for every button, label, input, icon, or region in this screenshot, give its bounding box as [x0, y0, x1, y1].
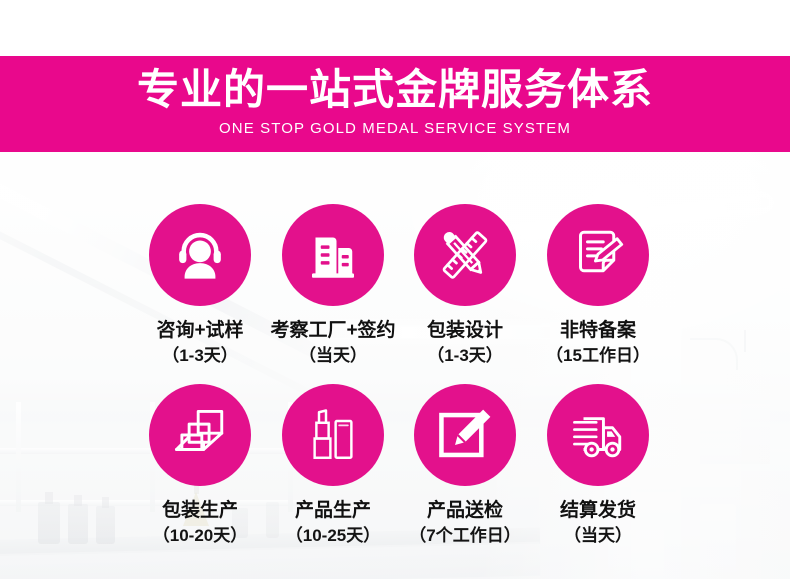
step-icon-circle — [149, 204, 251, 306]
ruler-pencil-icon — [436, 226, 494, 284]
step-icon-circle — [282, 384, 384, 486]
step-icon-circle — [149, 384, 251, 486]
stacked-boxes-icon — [171, 406, 229, 464]
step-duration: （当天） — [518, 525, 678, 547]
banner-subtitle: ONE STOP GOLD MEDAL SERVICE SYSTEM — [0, 120, 790, 138]
banner-title: 专业的一站式金牌服务体系 — [0, 64, 790, 116]
step-icon-circle — [282, 204, 384, 306]
step-icon-circle — [414, 204, 516, 306]
step-item-8[interactable]: 结算发货 （当天） — [518, 384, 678, 547]
headset-support-icon — [171, 226, 229, 284]
step-item-4[interactable]: 非特备案 （15工作日） — [518, 204, 678, 367]
step-duration: （15工作日） — [518, 345, 678, 367]
step-icon-circle — [547, 384, 649, 486]
document-edit-icon — [570, 227, 626, 283]
step-icon-circle — [547, 204, 649, 306]
service-process-infographic: 专业的一站式金牌服务体系 ONE STOP GOLD MEDAL SERVICE… — [0, 0, 790, 579]
lipstick-product-icon — [305, 407, 361, 463]
process-steps-grid: 咨询+试样 （1-3天） 考察工厂+签约 （当天） — [0, 152, 790, 579]
delivery-truck-icon — [569, 406, 627, 464]
factory-building-icon — [305, 227, 361, 283]
header-banner: 专业的一站式金牌服务体系 ONE STOP GOLD MEDAL SERVICE… — [0, 56, 790, 152]
top-white-strip — [0, 0, 790, 56]
edit-square-icon — [436, 406, 494, 464]
step-label: 非特备案 — [518, 319, 678, 343]
step-label: 结算发货 — [518, 499, 678, 523]
step-icon-circle — [414, 384, 516, 486]
